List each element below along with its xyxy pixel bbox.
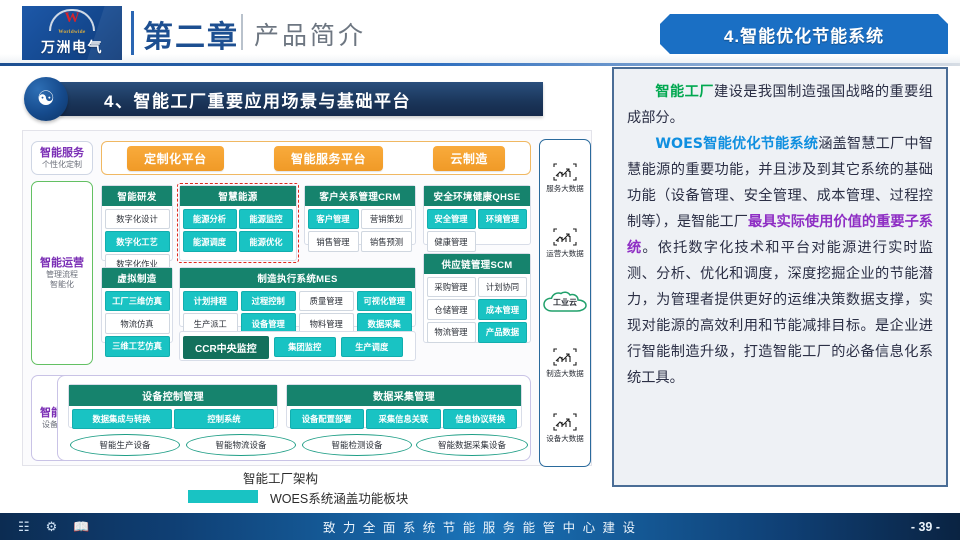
chart-icon [552, 162, 578, 182]
legend-text: WOES系统涵盖功能板块 [270, 488, 408, 507]
side-label-smart-service-sub: 个性化定制 [42, 160, 82, 170]
topic-tab-label: 4.智能优化节能系统 [724, 22, 884, 47]
cell-energy-optimize[interactable]: 能源优化 [239, 231, 293, 251]
cell-energy-monitor[interactable]: 能源监控 [239, 209, 293, 229]
industrial-cloud[interactable]: 工业云 [542, 291, 588, 315]
cell-quality-mgmt[interactable]: 质量管理 [299, 291, 355, 311]
bigdata-manufacturing[interactable]: 制造大数据 [546, 347, 584, 379]
group-data-acquisition: 数据采集管理 设备配置部署 采集信息关联 信息协议转换 [286, 384, 522, 428]
group-crm: 客户关系管理CRM 客户管理 营销策划 销售管理 销售预测 [304, 185, 416, 245]
description-panel: 智能工厂建设是我国制造强国战略的重要组成部分。 WOES智能优化节能系统涵盖智慧… [612, 67, 948, 487]
cell-factory-3d-sim[interactable]: 工厂三维仿真 [105, 291, 170, 311]
device-smart-inspection[interactable]: 智能检测设备 [302, 434, 412, 456]
cell-digital-process[interactable]: 数字化工艺 [105, 231, 170, 251]
group-scm: 供应链管理SCM 采购管理 计划协同 仓储管理 成本管理 物流管理 产品数据 [423, 253, 531, 343]
cell-collect-info-link[interactable]: 采集信息关联 [366, 409, 440, 429]
cell-logistics-sim[interactable]: 物流仿真 [105, 313, 170, 333]
bigdata-manufacturing-label: 制造大数据 [546, 368, 584, 379]
cell-protocol-convert[interactable]: 信息协议转换 [443, 409, 517, 429]
bigdata-equipment[interactable]: 设备大数据 [546, 412, 584, 444]
company-logo: W Worldwide 万洲电气 [22, 6, 122, 60]
page-footer: ☷ ⚙ 📖 致 力 全 面 系 统 节 能 服 务 能 管 中 心 建 设 - … [0, 513, 960, 540]
highlight-smart-factory: 智能工厂 [655, 84, 714, 100]
header-divider [131, 11, 134, 55]
chart-icon [552, 412, 578, 432]
diagram-caption: 智能工厂架构 [243, 468, 318, 487]
cell-visual-mgmt[interactable]: 可视化管理 [357, 291, 413, 311]
cell-energy-dispatch[interactable]: 能源调度 [183, 231, 237, 251]
cell-data-integration[interactable]: 数据集成与转换 [72, 409, 172, 429]
cell-safety-mgmt[interactable]: 安全管理 [427, 209, 476, 229]
highlight-woes-system: WOES智能优化节能系统 [655, 136, 818, 152]
header-divider-2 [241, 14, 243, 50]
group-virtual-manufacturing-header: 虚拟制造 [102, 268, 172, 288]
bigdata-equipment-label: 设备大数据 [546, 433, 584, 444]
cell-3d-process-sim[interactable]: 三维工艺仿真 [105, 336, 170, 356]
device-smart-logistics[interactable]: 智能物流设备 [186, 434, 296, 456]
cell-plan-collab[interactable]: 计划协同 [478, 277, 527, 297]
description-paragraph-1: 智能工厂建设是我国制造强国战略的重要组成部分。 [627, 79, 933, 131]
section-title-text: 4、智能工厂重要应用场景与基础平台 [104, 87, 411, 112]
legend-swatch [188, 490, 258, 503]
side-label-smart-service-title: 智能服务 [40, 147, 84, 160]
group-mes: 制造执行系统MES 计划排程 过程控制 质量管理 可视化管理 生产派工 设备管理… [179, 267, 416, 327]
cell-process-control[interactable]: 过程控制 [241, 291, 297, 311]
group-device-control: 设备控制管理 数据集成与转换 控制系统 [68, 384, 278, 428]
group-smart-energy: 智慧能源 能源分析 能源监控 能源调度 能源优化 [179, 185, 297, 261]
cell-environment-mgmt[interactable]: 环境管理 [478, 209, 527, 229]
group-qhse-header: 安全环境健康QHSE [424, 186, 530, 206]
device-smart-data-collection[interactable]: 智能数据采集设备 [416, 434, 528, 456]
side-label-smart-service: 智能服务 个性化定制 [31, 141, 93, 175]
ccr-header: CCR中央监控 [183, 336, 269, 359]
hand-bulb-glyph: ☯ [37, 89, 55, 109]
group-crm-header: 客户关系管理CRM [305, 186, 415, 206]
group-smart-energy-header: 智慧能源 [180, 186, 296, 206]
cell-customer-mgmt[interactable]: 客户管理 [308, 209, 359, 229]
para2-rest: 。依托数字化技术和平台对能源进行实时监测、分析、优化和调度，深度挖掘企业的节能潜… [627, 240, 933, 386]
cell-control-system[interactable]: 控制系统 [174, 409, 274, 429]
cell-digital-design[interactable]: 数字化设计 [105, 209, 170, 229]
hand-bulb-icon: ☯ [24, 77, 68, 121]
bigdata-service[interactable]: 服务大数据 [546, 162, 584, 194]
cell-warehouse-mgmt[interactable]: 仓储管理 [427, 299, 476, 319]
platform-smart-service[interactable]: 智能服务平台 [274, 146, 383, 171]
header-underline [0, 63, 960, 66]
bigdata-service-label: 服务大数据 [546, 183, 584, 194]
cell-device-config[interactable]: 设备配置部署 [290, 409, 364, 429]
cell-plan-scheduling[interactable]: 计划排程 [183, 291, 239, 311]
description-paragraph-2: WOES智能优化节能系统涵盖智慧工厂中智慧能源的重要功能，并且涉及到其它系统的基… [627, 131, 933, 391]
cell-sales-forecast[interactable]: 销售预测 [361, 231, 412, 251]
chart-icon [552, 347, 578, 367]
cell-health-mgmt[interactable]: 健康管理 [427, 231, 476, 251]
group-mes-header: 制造执行系统MES [180, 268, 415, 288]
group-qhse: 安全环境健康QHSE 安全管理 环境管理 健康管理 [423, 185, 531, 245]
cell-sales-mgmt[interactable]: 销售管理 [308, 231, 359, 251]
logo-company-name: 万洲电气 [41, 37, 103, 57]
group-data-acquisition-header: 数据采集管理 [287, 385, 521, 406]
smart-factory-architecture-diagram: 智能服务 个性化定制 智能运营 管理流程 智能化 智能车间 设备智能化 定制化平… [22, 130, 592, 466]
platform-custom[interactable]: 定制化平台 [127, 146, 224, 171]
cell-purchase-mgmt[interactable]: 采购管理 [427, 277, 476, 297]
section-title-bar: 4、智能工厂重要应用场景与基础平台 [60, 82, 543, 116]
footer-slogan: 致 力 全 面 系 统 节 能 服 务 能 管 中 心 建 设 [0, 517, 960, 536]
bigdata-operation[interactable]: 运营大数据 [546, 227, 584, 259]
cell-product-data[interactable]: 产品数据 [478, 322, 527, 342]
chart-icon [552, 227, 578, 247]
cell-group-monitor[interactable]: 集团监控 [274, 337, 336, 357]
group-scm-header: 供应链管理SCM [424, 254, 530, 274]
logo-letter: W [49, 11, 95, 26]
workshop-band: 设备控制管理 数据集成与转换 控制系统 数据采集管理 设备配置部署 采集信息关联… [57, 375, 531, 461]
group-ccr: CCR中央监控 集团监控 生产调度 [179, 331, 416, 361]
cell-logistics-mgmt[interactable]: 物流管理 [427, 322, 476, 342]
logo-mark-icon: W [49, 9, 95, 29]
device-smart-production[interactable]: 智能生产设备 [70, 434, 180, 456]
group-rnd: 智能研发 数字化设计 数字化工艺 数字化作业 [101, 185, 173, 261]
footer-page-number: - 39 - [911, 520, 940, 534]
industrial-cloud-label: 工业云 [553, 297, 577, 308]
platform-cloud-manufacturing[interactable]: 云制造 [433, 146, 505, 171]
topic-tab: 4.智能优化节能系统 [660, 14, 948, 54]
side-label-smart-operation: 智能运营 管理流程 智能化 [31, 181, 93, 365]
cell-energy-analysis[interactable]: 能源分析 [183, 209, 237, 229]
section-subtitle: 产品简介 [254, 16, 366, 52]
chapter-title: 第二章 [143, 12, 239, 56]
bigdata-operation-label: 运营大数据 [546, 248, 584, 259]
group-rnd-header: 智能研发 [102, 186, 172, 206]
bigdata-column: 服务大数据 运营大数据 工业云 [539, 139, 591, 467]
cell-cost-mgmt[interactable]: 成本管理 [478, 299, 527, 319]
cell-production-schedule[interactable]: 生产调度 [341, 337, 403, 357]
platform-row: 定制化平台 智能服务平台 云制造 [101, 141, 531, 175]
side-label-smart-operation-title: 智能运营 [40, 257, 84, 270]
group-device-control-header: 设备控制管理 [69, 385, 277, 406]
group-virtual-manufacturing: 虚拟制造 工厂三维仿真 物流仿真 三维工艺仿真 [101, 267, 173, 343]
side-label-smart-operation-sub: 管理流程 智能化 [46, 270, 78, 290]
cell-marketing-plan[interactable]: 营销策划 [361, 209, 412, 229]
